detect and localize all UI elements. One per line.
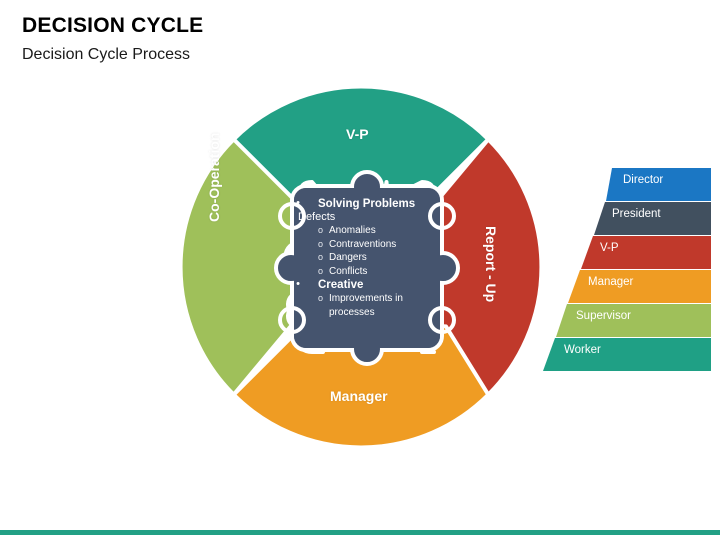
center-list-item: o Contraventions — [292, 238, 438, 252]
center-list-item: o Dangers — [292, 251, 438, 265]
center-list-item: o Anomalies — [292, 224, 438, 238]
pyramid-label-director: Director — [623, 174, 663, 186]
pyramid-label-president: President — [612, 208, 661, 220]
pyramid-label-vp: V-P — [600, 242, 619, 254]
puzzle-segment-label-left: Co-Operation — [206, 133, 222, 222]
pyramid-label-worker: Worker — [564, 344, 601, 356]
hierarchy-pyramid — [543, 168, 711, 371]
center-item-anomalies: Anomalies — [329, 224, 376, 238]
puzzle-center-text: • Solving Problems Defects o Anomalies o… — [292, 197, 438, 319]
center-item-improvements: Improvements in processes — [329, 292, 438, 319]
center-item-dangers: Dangers — [329, 251, 367, 265]
puzzle-segment-label-right: Report - Up — [483, 226, 499, 302]
pyramid-label-manager: Manager — [588, 276, 633, 288]
center-heading-solving-problems: Solving Problems — [304, 197, 415, 211]
circle-bullet-icon: o — [318, 292, 329, 304]
puzzle-segment-label-bottom: Manager — [330, 388, 388, 404]
circle-bullet-icon: o — [318, 251, 329, 263]
pyramid-label-supervisor: Supervisor — [576, 310, 631, 322]
puzzle-segment-label-top: V-P — [346, 126, 369, 142]
center-block-heading-row: • Solving Problems — [292, 197, 438, 211]
center-heading-creative: Creative — [304, 278, 363, 292]
center-list-item: o Conflicts — [292, 265, 438, 279]
center-item-contraventions: Contraventions — [329, 238, 396, 252]
center-subheading-defects: Defects — [292, 211, 438, 224]
circle-bullet-icon: o — [318, 238, 329, 250]
center-block-heading-row: • Creative — [292, 278, 438, 292]
center-item-conflicts: Conflicts — [329, 265, 367, 279]
center-list-item: o Improvements in processes — [292, 292, 438, 319]
bullet-icon: • — [292, 278, 304, 291]
circle-bullet-icon: o — [318, 265, 329, 277]
bottom-accent-bar — [0, 530, 720, 535]
bullet-icon: • — [292, 197, 304, 210]
circle-bullet-icon: o — [318, 224, 329, 236]
